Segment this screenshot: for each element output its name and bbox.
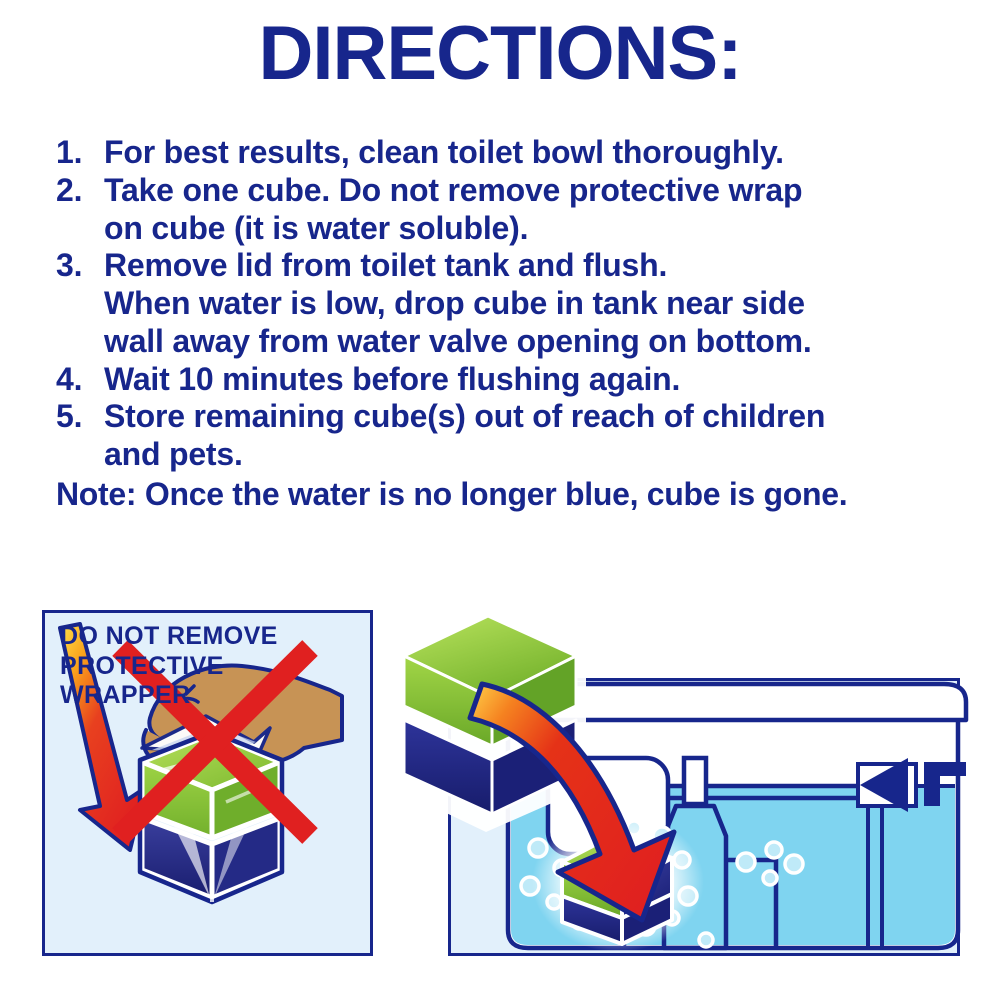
direction-step: 1. For best results, clean toilet bowl t… [56,134,966,172]
warning-line: DO NOT REMOVE [60,622,278,652]
direction-step: 5. Store remaining cube(s) out of reach … [56,398,966,474]
directions-list: 1. For best results, clean toilet bowl t… [56,134,966,514]
step-line: wall away from water valve opening on bo… [104,323,966,361]
step-line: and pets. [104,436,966,474]
step-text: For best results, clean toilet bowl thor… [104,134,966,172]
step-number: 3. [56,247,104,285]
navy-arrow-icon [858,758,916,812]
warning-line: PROTECTIVE [60,652,278,682]
right-illustration-svg [390,600,970,965]
step-line: Take one cube. Do not remove protective … [104,172,966,210]
step-text: Take one cube. Do not remove protective … [104,172,966,248]
step-line: Wait 10 minutes before flushing again. [104,361,966,399]
step-number: 5. [56,398,104,436]
page-title: DIRECTIONS: [0,16,1000,92]
step-line: Store remaining cube(s) out of reach of … [104,398,966,436]
direction-step: 2. Take one cube. Do not remove protecti… [56,172,966,248]
step-line: When water is low, drop cube in tank nea… [104,285,966,323]
directions-note: Note: Once the water is no longer blue, … [56,476,966,514]
step-number: 1. [56,134,104,172]
direction-step: 3. Remove lid from toilet tank and flush… [56,247,966,360]
right-panel-illustration [390,600,970,965]
step-text: Wait 10 minutes before flushing again. [104,361,966,399]
step-line: Remove lid from toilet tank and flush. [104,247,966,285]
step-text: Store remaining cube(s) out of reach of … [104,398,966,474]
direction-step: 4. Wait 10 minutes before flushing again… [56,361,966,399]
step-line: For best results, clean toilet bowl thor… [104,134,966,172]
wrapper-warning-text: DO NOT REMOVE PROTECTIVE WRAPPER [60,622,278,711]
step-text: Remove lid from toilet tank and flush. W… [104,247,966,360]
step-line: on cube (it is water soluble). [104,210,966,248]
step-number: 2. [56,172,104,210]
step-number: 4. [56,361,104,399]
warning-line: WRAPPER [60,681,278,711]
